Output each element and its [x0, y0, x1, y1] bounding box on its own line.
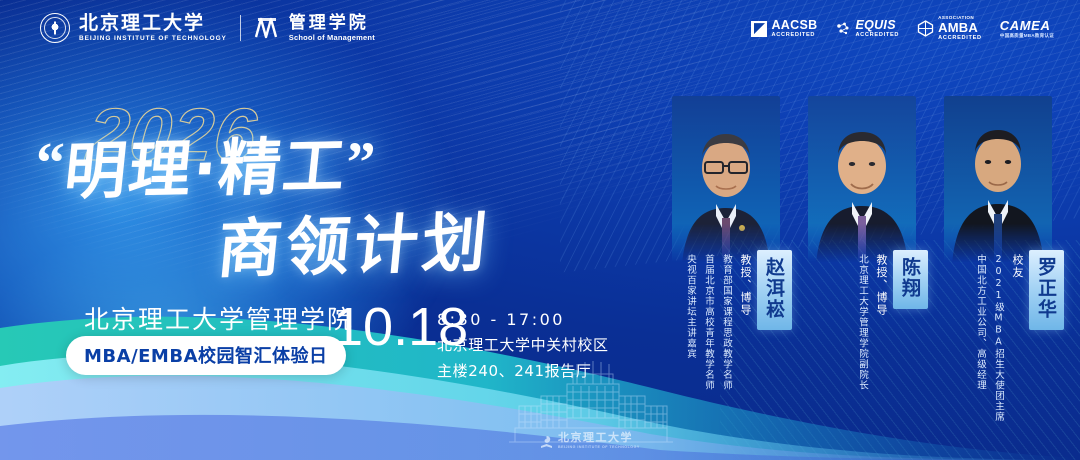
speaker-card: 罗正华 校友 2021级MBA招生大使团主席 中国北方工业公司、高级经理 — [930, 0, 1066, 460]
speaker-card: 赵洱崧 教授、博导 教育部国家课程思政教学名师 首届北京市高校青年教学名师 央视… — [658, 0, 794, 460]
som-monogram-icon — [254, 15, 280, 41]
speaker-role: 教授、博导 — [873, 250, 889, 317]
bit-dove-book-icon — [540, 435, 553, 449]
speaker-bio-line: 2021级MBA招生大使团主席 — [991, 250, 1005, 422]
speaker-portrait-icon — [944, 96, 1052, 264]
speaker-name: 罗正华 — [1029, 250, 1064, 330]
speaker-card: 陈翔 教授、博导 北京理工大学管理学院副院长 — [794, 0, 930, 460]
event-poster: 北京理工大学 BEIJING INSTITUTE OF TECHNOLOGY 管… — [0, 0, 1080, 460]
university-name-en: BEIJING INSTITUTE OF TECHNOLOGY — [79, 36, 227, 43]
speaker-name: 陈翔 — [893, 250, 928, 309]
speaker-name: 赵洱崧 — [757, 250, 792, 330]
event-venue-line1: 北京理工大学中关村校区 — [437, 334, 609, 355]
speaker-portrait-icon — [808, 96, 916, 264]
speaker-info: 陈翔 教授、博导 北京理工大学管理学院副院长 — [794, 250, 930, 430]
event-time: 8:30 - 17:00 — [437, 310, 609, 329]
poster-title-main: 明理·精工 — [62, 135, 351, 203]
speaker-info: 赵洱崧 教授、博导 教育部国家课程思政教学名师 首届北京市高校青年教学名师 央视… — [658, 250, 794, 430]
speaker-portrait-icon — [672, 96, 780, 264]
speaker-role: 教授、博导 — [737, 250, 753, 317]
speaker-info: 罗正华 校友 2021级MBA招生大使团主席 中国北方工业公司、高级经理 — [930, 250, 1066, 430]
event-name-badge: MBA/EMBA校园智汇体验日 — [66, 336, 346, 375]
organizer-line: 北京理工大学管理学院 — [84, 300, 354, 336]
school-name: 管理学院 School of Management — [289, 14, 375, 42]
speaker-bio-line: 教育部国家课程思政教学名师 — [719, 250, 733, 391]
bit-watermark-en: BEIJING INSTITUTE OF TECHNOLOGY — [558, 446, 640, 450]
quote-close: ” — [347, 138, 376, 187]
bit-watermark: 北京理工大学 BEIJING INSTITUTE OF TECHNOLOGY — [540, 433, 648, 450]
speakers-panel: 赵洱崧 教授、博导 教育部国家课程思政教学名师 首届北京市高校青年教学名师 央视… — [648, 0, 1080, 460]
speaker-bio-line: 首届北京市高校青年教学名师 — [701, 250, 715, 391]
brand-logo-group: 北京理工大学 BEIJING INSTITUTE OF TECHNOLOGY 管… — [40, 13, 375, 43]
university-name-cn: 北京理工大学 — [79, 14, 227, 33]
logo-divider — [240, 15, 241, 41]
quote-open: “ — [36, 138, 65, 187]
school-name-cn: 管理学院 — [289, 14, 375, 31]
poster-title-sub: 商领计划 — [215, 211, 494, 282]
speaker-bio-line: 央视百家讲坛主讲嘉宾 — [683, 250, 697, 359]
speaker-bio-line: 北京理工大学管理学院副院长 — [855, 250, 869, 391]
university-name: 北京理工大学 BEIJING INSTITUTE OF TECHNOLOGY — [79, 14, 227, 43]
bit-watermark-cn: 北京理工大学 — [558, 433, 640, 444]
school-name-en: School of Management — [289, 34, 375, 42]
speaker-role: 校友 — [1009, 250, 1025, 279]
bit-seal-icon — [40, 13, 70, 43]
speaker-bio-line: 中国北方工业公司、高级经理 — [973, 250, 987, 391]
poster-title-line1: “ 明理·精工 ” — [36, 138, 376, 200]
